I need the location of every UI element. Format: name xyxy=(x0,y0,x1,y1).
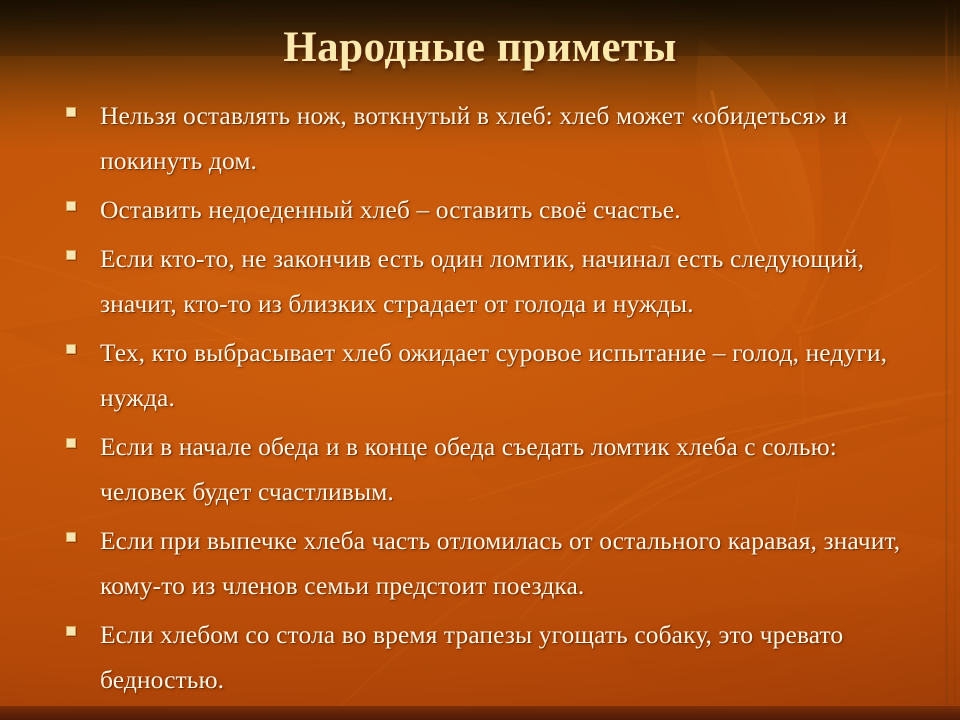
square-bullet-icon xyxy=(66,201,76,211)
list-item: Если кто-то, не закончив есть один ломти… xyxy=(66,236,916,326)
presentation-slide: Народные приметы Нельзя оставлять нож, в… xyxy=(0,0,960,720)
list-item-text: Нельзя оставлять нож, воткнутый в хлеб: … xyxy=(100,93,916,183)
background-right-rail-secondary xyxy=(954,0,956,720)
list-item-text: Тех, кто выбрасывает хлеб ожидает сурово… xyxy=(100,330,916,420)
list-item-text: Если в начале обеда и в конце обеда съед… xyxy=(100,424,916,514)
list-item: Если при выпечке хлеба часть отломилась … xyxy=(66,518,916,608)
square-bullet-icon xyxy=(66,107,76,117)
square-bullet-icon xyxy=(66,532,76,542)
list-item: Нельзя оставлять нож, воткнутый в хлеб: … xyxy=(66,93,916,183)
square-bullet-icon xyxy=(66,250,76,260)
square-bullet-icon xyxy=(66,438,76,448)
list-item: Оставить недоеденный хлеб – оставить сво… xyxy=(66,187,916,232)
list-item: Тех, кто выбрасывает хлеб ожидает сурово… xyxy=(66,330,916,420)
slide-footer-band xyxy=(0,706,960,720)
background-right-rail xyxy=(945,0,948,720)
list-item: Если в начале обеда и в конце обеда съед… xyxy=(66,424,916,514)
list-item: Если хлебом со стола во время трапезы уг… xyxy=(66,612,916,702)
square-bullet-icon xyxy=(66,344,76,354)
slide-title: Народные приметы xyxy=(0,22,960,74)
list-item-text: Если хлебом со стола во время трапезы уг… xyxy=(100,612,916,702)
square-bullet-icon xyxy=(66,626,76,636)
list-item-text: Если кто-то, не закончив есть один ломти… xyxy=(100,236,916,326)
list-item-text: Если при выпечке хлеба часть отломилась … xyxy=(100,518,916,608)
list-item-text: Оставить недоеденный хлеб – оставить сво… xyxy=(100,187,916,232)
bullet-list: Нельзя оставлять нож, воткнутый в хлеб: … xyxy=(66,93,916,706)
